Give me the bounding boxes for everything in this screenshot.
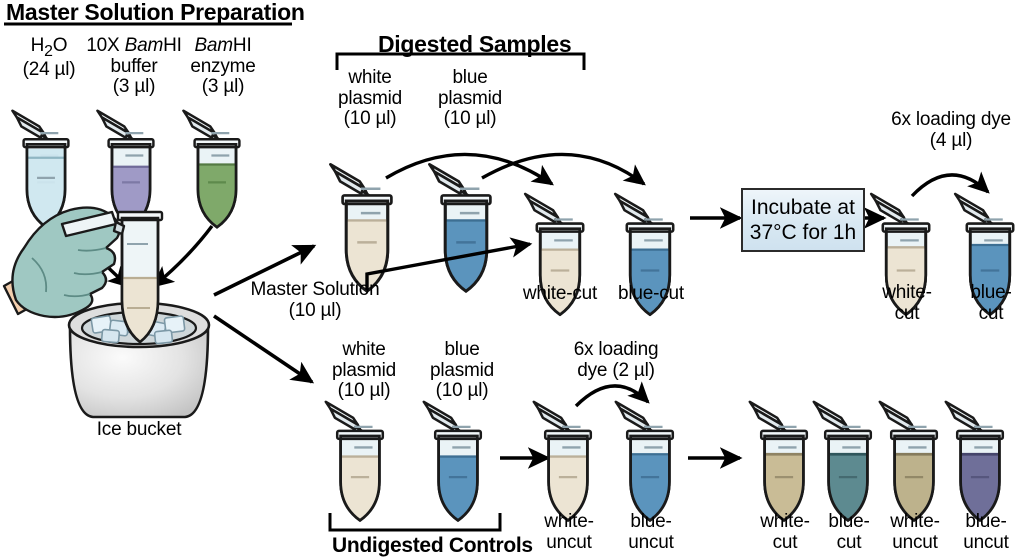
- dye-bottom-label: 6x loading dye (2 µl): [548, 340, 684, 381]
- blue-plasmid-tube-digested: [429, 164, 490, 298]
- enzyme-word: enzyme: [190, 56, 255, 77]
- buffer-label: 10X BamHI buffer (3 µl): [84, 36, 184, 98]
- dye-top-line2: (4 µl): [930, 130, 972, 151]
- wpu-l3: (10 µl): [338, 380, 391, 401]
- master-title: Master Solution Preparation: [6, 0, 305, 26]
- arrow-dye-top: [912, 175, 988, 196]
- incubate-box: Incubate at 37°C for 1h: [741, 188, 865, 252]
- final-blue-cut-tube: [814, 402, 871, 527]
- incubate-line1: Incubate at: [751, 196, 855, 219]
- bp-l2: plasmid: [438, 88, 502, 109]
- fbu-2: uncut: [963, 532, 1008, 553]
- final-white-uncut-label: white- uncut: [878, 512, 952, 553]
- white-uncut-label: white- uncut: [534, 512, 604, 553]
- white-plasmid-label-undigested: white plasmid (10 µl): [318, 340, 410, 402]
- bcd-2: cut: [979, 303, 1004, 324]
- master-solution-label: Master Solution (10 µl): [222, 280, 408, 321]
- undigested-controls-title: Undigested Controls: [332, 534, 533, 558]
- enzyme-italic: Bam: [194, 35, 232, 56]
- white-cut-label: white-cut: [506, 284, 614, 305]
- wpu-l2: plasmid: [332, 360, 396, 381]
- blue-uncut-label: blue- uncut: [618, 512, 684, 553]
- arrow-enzyme-to-master: [154, 226, 212, 286]
- white-uncut-tube: [534, 402, 591, 527]
- ice-bucket: [4, 208, 209, 417]
- buffer-word: buffer: [110, 56, 157, 77]
- fwc-2: cut: [773, 532, 798, 553]
- bu-1: blue-: [630, 511, 671, 532]
- fbu-1: blue-: [965, 511, 1006, 532]
- final-blue-cut-label: blue- cut: [818, 512, 880, 553]
- water-volume: (24 µl): [23, 59, 76, 80]
- water-label: H2O (24 µl): [6, 36, 92, 80]
- final-white-cut-label: white- cut: [750, 512, 820, 553]
- final-white-cut-tube: [750, 402, 807, 527]
- dye-bottom-line2: dye (2 µl): [577, 360, 655, 381]
- bcd-1: blue-: [970, 282, 1011, 303]
- buffer-enzyme-italic: Bam: [125, 35, 163, 56]
- blue-cut-label: blue-cut: [604, 284, 698, 305]
- arrow-master-to-undigested: [214, 316, 312, 382]
- digested-samples-title: Digested Samples: [378, 31, 571, 58]
- white-plasmid-tube-undigested: [326, 402, 383, 527]
- dye-bottom-line1: 6x loading: [574, 339, 659, 360]
- arrow-blue-plasmid-to-blue-cut: [482, 154, 644, 184]
- wcd-1: white-: [882, 282, 931, 303]
- wp-l3: (10 µl): [344, 108, 397, 129]
- wu-2: uncut: [546, 532, 591, 553]
- blue-cut-dye-label: blue- cut: [958, 283, 1024, 324]
- blue-plasmid-label-digested: blue plasmid (10 µl): [424, 68, 516, 130]
- gloved-hand: [4, 208, 124, 317]
- wp-l1: white: [348, 67, 391, 88]
- water-name: H2O: [31, 35, 68, 56]
- blue-plasmid-label-undigested: blue plasmid (10 µl): [416, 340, 508, 402]
- fwu-1: white-: [890, 511, 939, 532]
- bpu-l3: (10 µl): [436, 380, 489, 401]
- wpu-l1: white: [342, 339, 385, 360]
- enzyme-tube: [183, 111, 239, 234]
- incubate-line2: 37°C for 1h: [750, 221, 856, 244]
- wp-l2: plasmid: [338, 88, 402, 109]
- white-cut-dye-label: white- cut: [872, 283, 942, 324]
- bp-l1: blue: [452, 67, 487, 88]
- final-blue-uncut-tube: [946, 402, 1003, 527]
- master-solution-text: Master Solution: [250, 279, 379, 300]
- white-plasmid-label-digested: white plasmid (10 µl): [324, 68, 416, 130]
- fbc-2: cut: [837, 532, 862, 553]
- final-blue-uncut-label: blue- uncut: [950, 512, 1022, 553]
- buffer-prefix: 10X: [86, 35, 124, 56]
- fbc-1: blue-: [828, 511, 869, 532]
- water-tube: [12, 111, 68, 230]
- final-white-uncut-tube: [880, 402, 937, 527]
- bpu-l2: plasmid: [430, 360, 494, 381]
- bpu-l1: blue: [444, 339, 479, 360]
- wcd-2: cut: [895, 303, 920, 324]
- fwc-1: white-: [760, 511, 809, 532]
- diagram-canvas: Master Solution Preparation Digested Sam…: [0, 0, 1024, 559]
- arrow-dye-bottom: [576, 386, 648, 406]
- enzyme-volume: (3 µl): [202, 76, 244, 97]
- enzyme-label: BamHI enzyme (3 µl): [178, 36, 268, 98]
- master-solution-tube: [118, 212, 162, 342]
- master-solution-volume: (10 µl): [289, 300, 342, 321]
- enzyme-rest: HI: [233, 35, 252, 56]
- bp-l3: (10 µl): [444, 108, 497, 129]
- fwu-2: uncut: [892, 532, 937, 553]
- dye-top-label: 6x loading dye (4 µl): [880, 110, 1022, 151]
- blue-uncut-tube: [616, 402, 673, 527]
- wu-1: white-: [544, 511, 593, 532]
- blue-plasmid-tube-undigested: [424, 402, 481, 527]
- buffer-volume: (3 µl): [113, 76, 155, 97]
- bu-2: uncut: [628, 532, 673, 553]
- dye-top-line1: 6x loading dye: [891, 109, 1011, 130]
- ice-bucket-label: Ice bucket: [74, 420, 204, 441]
